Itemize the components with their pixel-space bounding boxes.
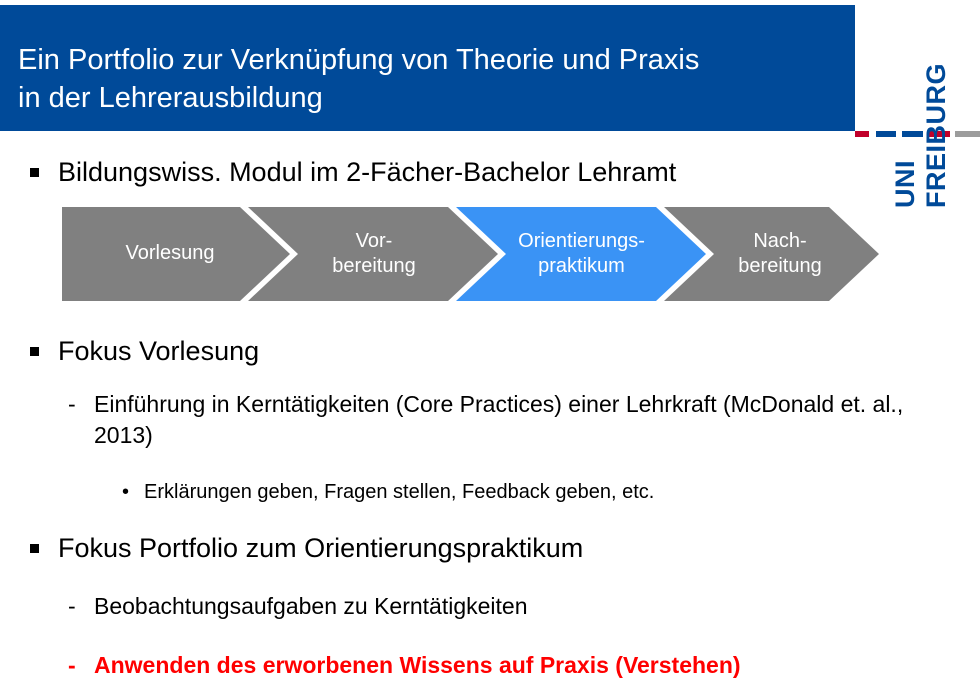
- bullet-text: Fokus Portfolio zum Orientierungspraktik…: [58, 531, 583, 565]
- square-bullet-icon: [30, 347, 39, 356]
- square-bullet-icon: [30, 544, 39, 553]
- bullet-text: Fokus Vorlesung: [58, 334, 259, 368]
- subsubbullet-erklaerungen-geben: • Erklärungen geben, Fragen stellen, Fee…: [122, 479, 952, 506]
- subbullet-text: Einführung in Kerntätigkeiten (Core Prac…: [94, 389, 958, 451]
- bullet-fokus-portfolio: Fokus Portfolio zum Orientierungspraktik…: [30, 531, 930, 565]
- logo-word-freiburg: FREIBURG: [923, 63, 950, 208]
- subbullet-einfuehrung-kerntaetigkeiten: - Einführung in Kerntätigkeiten (Core Pr…: [68, 389, 958, 451]
- square-bullet-icon: [30, 168, 39, 177]
- page-title: Ein Portfolio zur Verknüpfung von Theori…: [18, 41, 848, 117]
- bullet-fokus-vorlesung: Fokus Vorlesung: [30, 334, 930, 368]
- bullet-text: Bildungswiss. Modul im 2-Fächer-Bachelor…: [58, 155, 676, 189]
- logo-word-uni: UNI: [892, 160, 919, 208]
- subbullet-text: Anwenden des erworbenen Wissens auf Prax…: [94, 650, 741, 681]
- dash-bullet-icon: -: [68, 650, 84, 681]
- dash-bullet-icon: -: [68, 389, 84, 420]
- dot-bullet-icon: •: [122, 479, 136, 506]
- dash-bullet-icon: -: [68, 591, 84, 622]
- process-chevron-diagram: Vorlesung Vor- bereitung Orientierungs- …: [62, 207, 879, 301]
- subbullet-anwenden-wissen-praxis: - Anwenden des erworbenen Wissens auf Pr…: [68, 650, 973, 681]
- subbullet-beobachtungsaufgaben: - Beobachtungsaufgaben zu Kerntätigkeite…: [68, 591, 958, 622]
- uni-freiburg-logo: UNI FREIBURG: [855, 0, 980, 215]
- logo-wordmark: UNI FREIBURG: [855, 36, 980, 214]
- chevron-shape-1: [62, 207, 290, 301]
- slide-content: Bildungswiss. Modul im 2-Fächer-Bachelor…: [0, 131, 980, 700]
- subbullet-text: Beobachtungsaufgaben zu Kerntätigkeiten: [94, 591, 528, 622]
- bullet-bildungswiss-modul: Bildungswiss. Modul im 2-Fächer-Bachelor…: [30, 155, 930, 189]
- subsubbullet-text: Erklärungen geben, Fragen stellen, Feedb…: [144, 479, 654, 506]
